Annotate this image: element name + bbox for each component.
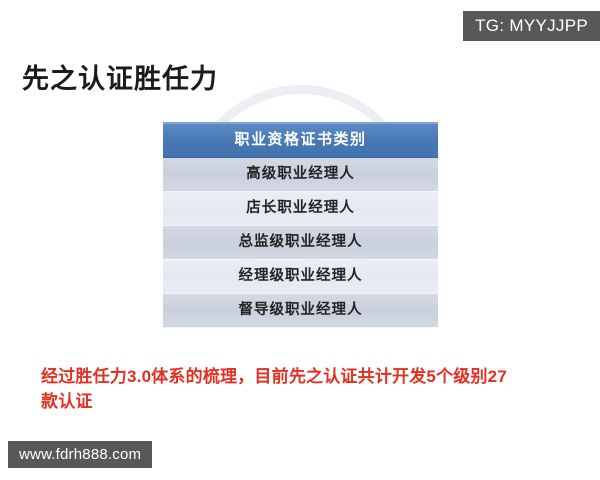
table-row: 店长职业经理人 [163, 192, 438, 226]
telegram-badge: TG: MYYJJPP [463, 11, 600, 41]
table-row: 总监级职业经理人 [163, 226, 438, 260]
certificate-table: 职业资格证书类别 高级职业经理人 店长职业经理人 总监级职业经理人 经理级职业经… [163, 122, 438, 328]
table-row: 督导级职业经理人 [163, 294, 438, 328]
site-url-badge: www.fdrh888.com [8, 441, 152, 468]
table-header-cell: 职业资格证书类别 [163, 122, 438, 158]
slide-canvas: 先 TG: MYYJJPP 先之认证胜任力 职业资格证书类别 高级职业经理人 店… [0, 0, 600, 480]
table-row: 经理级职业经理人 [163, 260, 438, 294]
summary-note: 经过胜任力3.0体系的梳理，目前先之认证共计开发5个级别27款认证 [41, 364, 521, 414]
table-row: 高级职业经理人 [163, 158, 438, 192]
page-title: 先之认证胜任力 [22, 57, 218, 96]
